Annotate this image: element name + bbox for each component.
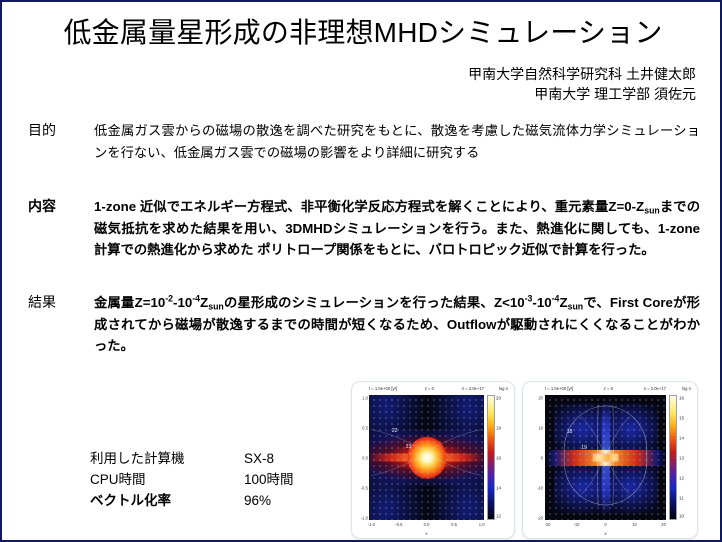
section-results-label: 結果 [28, 292, 94, 313]
section-results-text: 金属量Z=10-2-10-4Zsunの星形成のシミュレーションを行った結果、Z<… [94, 292, 700, 357]
results-part-3: Z [200, 295, 208, 310]
figure-left-contour-label-23: 23 [406, 444, 412, 450]
results-part-4: の星形成のシミュレーションを行った結果、Z<10 [224, 295, 525, 310]
results-part-2: -10 [173, 295, 192, 310]
results-part-1: 金属量Z=10 [94, 295, 165, 310]
results-part-5: -10 [532, 295, 551, 310]
figure-right-colorbar [669, 395, 677, 520]
spec-key-cpu-time: CPU時間 [90, 469, 244, 490]
author-block: 甲南大学自然科学研究科 土井健太郎 甲南大学 理工学部 須佐元 [468, 64, 696, 104]
figure-left-core [407, 436, 446, 479]
spec-value-machine: SX-8 [244, 448, 274, 469]
figure-right-contour-label-18: 18 [567, 429, 573, 435]
figure-right-y-axis: 20 10 0 -10 -20 [527, 395, 543, 520]
figure-left-contour-label-22: 22 [392, 428, 398, 434]
figure-left-y-axis: 1.0 0.5 0.0 -0.5 -1.0 [354, 395, 368, 520]
spec-key-vectorization: ベクトル化率 [90, 490, 244, 511]
spec-value-vectorization: 96% [244, 490, 271, 511]
figure-left-colorbar [487, 395, 495, 520]
section-purpose-label: 目的 [28, 120, 94, 141]
section-results: 結果 金属量Z=10-2-10-4Zsunの星形成のシミュレーションを行った結果… [28, 292, 700, 357]
figure-right-header: t = 1.0e+00 [yr] z = 0 n = 2.0e+17 [545, 386, 666, 391]
section-contents-label: 内容 [28, 196, 94, 217]
figure-right-colorbar-title: log n [682, 386, 691, 391]
figure-right-colorbar-ticks: 16 15 14 13 12 11 10 [679, 395, 693, 520]
results-superscript-1: -2 [165, 294, 173, 304]
results-subscript-1: sun [208, 301, 224, 311]
author-line-1: 甲南大学自然科学研究科 土井健太郎 [468, 64, 696, 84]
section-purpose-text: 低金属ガス雲からの磁場の散逸を調べた研究をもとに、散逸を考慮した磁気流体力学シミ… [94, 120, 700, 163]
figure-right-caption-mid: z = 0 [604, 386, 613, 391]
figure-left-x-label: x [369, 531, 484, 536]
page-title: 低金属量星形成の非理想MHDシミュレーション [2, 16, 722, 50]
results-part-6: Z [559, 295, 567, 310]
figure-right-first-core-knots [592, 453, 619, 462]
figure-left-caption-mid: z = 0 [425, 386, 434, 391]
spec-row: CPU時間 100時間 [90, 469, 294, 490]
figure-left-x-axis: -1.0 -0.5 0.0 0.5 1.0 [369, 522, 484, 529]
section-contents-text: 1-zone 近似でエネルギー方程式、非平衡化学反応方程式を解くことにより、重元… [94, 196, 700, 261]
author-line-2: 甲南大学 理工学部 須佐元 [468, 84, 696, 104]
spec-table: 利用した計算機 SX-8 CPU時間 100時間 ベクトル化率 96% [90, 448, 294, 511]
figure-left-header: t = 1.0e+00 [yr] z = 0 n = 2.0e+17 [369, 386, 484, 391]
spec-key-machine: 利用した計算機 [90, 448, 244, 469]
presentation-slide: 低金属量星形成の非理想MHDシミュレーション 甲南大学自然科学研究科 土井健太郎… [0, 0, 722, 542]
figure-left-plot-area: 22 23 [369, 395, 484, 520]
contents-part-1: 1-zone 近似でエネルギー方程式、非平衡化学反応方程式を解くことにより、重元… [94, 199, 644, 214]
results-superscript-2: -4 [192, 294, 200, 304]
contents-subscript-sun: sun [644, 205, 660, 215]
figure-right-x-label: x [545, 531, 666, 536]
spec-row: 利用した計算機 SX-8 [90, 448, 294, 469]
figure-right-caption-right: n = 2.0e+17 [644, 386, 666, 391]
figure-right-contour-label-19: 19 [581, 445, 587, 451]
figure-left-colorbar-title: log n [499, 386, 508, 391]
figure-left-caption-left: t = 1.0e+00 [yr] [369, 386, 397, 391]
results-subscript-2: sun [568, 301, 584, 311]
figure-left-caption-right: n = 2.0e+17 [462, 386, 484, 391]
spec-value-cpu-time: 100時間 [244, 469, 294, 490]
section-contents: 内容 1-zone 近似でエネルギー方程式、非平衡化学反応方程式を解くことにより… [28, 196, 700, 261]
figure-right-caption-left: t = 1.0e+00 [yr] [545, 386, 573, 391]
figure-left-density-map: t = 1.0e+00 [yr] z = 0 n = 2.0e+17 22 23 [351, 381, 515, 539]
section-purpose: 目的 低金属ガス雲からの磁場の散逸を調べた研究をもとに、散逸を考慮した磁気流体力… [28, 120, 700, 163]
figure-right-plot-area: 18 19 [545, 395, 666, 520]
figure-left-colorbar-ticks: 20 18 16 14 12 [496, 395, 510, 520]
figure-right-outflow-map: t = 1.0e+00 [yr] z = 0 n = 2.0e+17 [522, 381, 698, 539]
spec-row: ベクトル化率 96% [90, 490, 294, 511]
figure-right-x-axis: -20 -10 0 10 20 [545, 522, 666, 529]
